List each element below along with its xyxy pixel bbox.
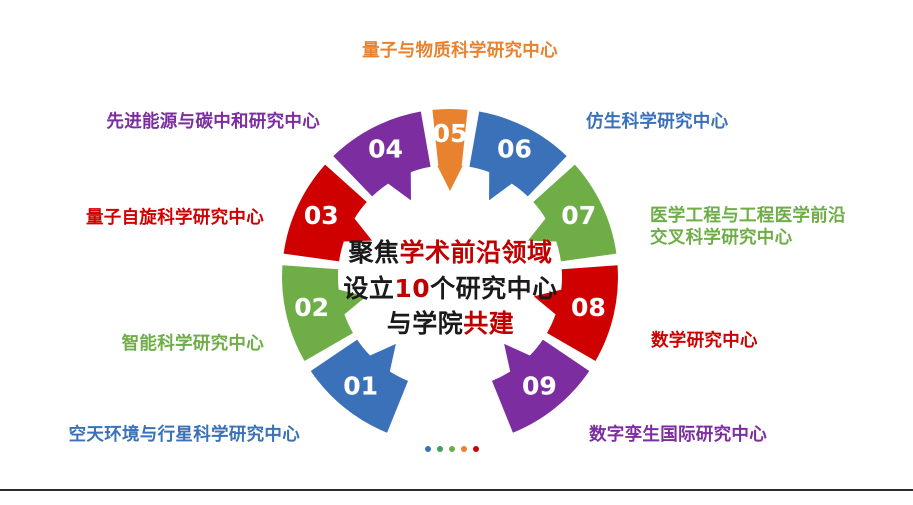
center-line-3-plain: 与学院 <box>387 309 464 338</box>
label-01[interactable]: 空天环境与行星科学研究中心 <box>28 424 300 446</box>
label-07[interactable]: 医学工程与工程医学前沿 交叉科学研究中心 <box>650 205 900 250</box>
center-line-2-plain-a: 设立 <box>343 274 394 303</box>
label-03[interactable]: 量子自旋科学研究中心 <box>32 207 264 229</box>
segment-number-07: 07 <box>561 201 596 230</box>
label-06[interactable]: 仿生科学研究中心 <box>586 111 796 133</box>
label-08[interactable]: 数学研究中心 <box>651 330 831 352</box>
decorative-dot-2 <box>437 446 443 452</box>
label-09[interactable]: 数字孪生国际研究中心 <box>589 424 829 446</box>
bottom-divider <box>0 489 913 491</box>
center-line-1: 聚焦学术前沿领域 <box>318 235 583 271</box>
center-line-2: 设立10个研究中心 <box>318 271 583 307</box>
center-line-2-count: 10 <box>394 274 430 303</box>
segment-number-09: 09 <box>522 371 557 400</box>
decorative-dots <box>425 446 479 452</box>
decorative-dot-3 <box>449 446 455 452</box>
slide-canvas: 010203040506070809 量子与物质科学研究中心先进能源与碳中和研究… <box>0 0 913 505</box>
center-line-3-highlight: 共建 <box>463 309 514 338</box>
center-line-1-plain: 聚焦 <box>348 238 399 267</box>
label-02[interactable]: 智能科学研究中心 <box>76 333 264 355</box>
center-statement: 聚焦学术前沿领域 设立10个研究中心 与学院共建 <box>318 235 583 342</box>
decorative-dot-1 <box>425 446 431 452</box>
decorative-dot-4 <box>461 446 467 452</box>
center-line-1-highlight: 学术前沿领域 <box>400 238 553 267</box>
segment-number-03: 03 <box>304 201 339 230</box>
segment-number-04: 04 <box>368 135 403 164</box>
label-05[interactable]: 量子与物质科学研究中心 <box>325 40 595 62</box>
segment-number-01: 01 <box>343 371 378 400</box>
decorative-dot-5 <box>473 446 479 452</box>
center-line-3: 与学院共建 <box>318 306 583 342</box>
segment-number-06: 06 <box>497 135 532 164</box>
segment-number-05: 05 <box>433 119 468 148</box>
label-04[interactable]: 先进能源与碳中和研究中心 <box>48 111 320 133</box>
center-line-2-plain-b: 个研究中心 <box>430 274 558 303</box>
